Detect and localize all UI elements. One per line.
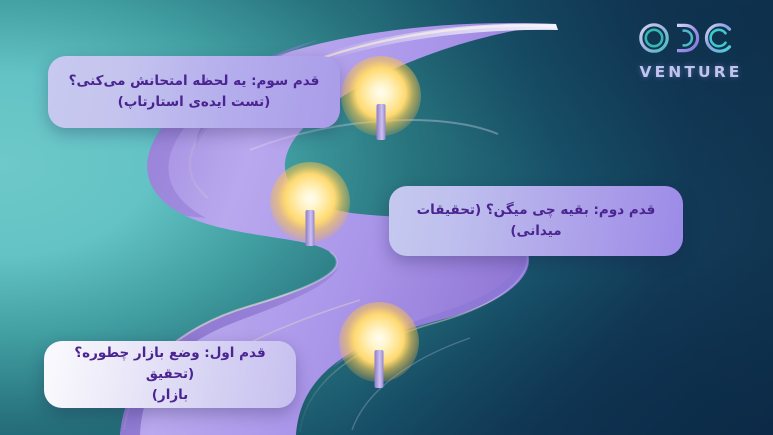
lamp-post	[377, 104, 386, 140]
step-card-1-line2: بازار)	[58, 385, 282, 406]
step-card-3[interactable]: قدم سوم: یه لحظه امتحانش می‌کنی؟ (تست ای…	[48, 56, 340, 128]
step-card-3-line2: (تست ایده‌ی استارتاپ)	[69, 92, 320, 113]
step-card-1[interactable]: قدم اول: وضع بازار چطوره؟ (تحقیق بازار)	[44, 341, 296, 408]
lamp-top	[341, 56, 421, 140]
step-card-2[interactable]: قدم دوم: بقیه چی میگن؟ (تحقیقات میدانی)	[389, 186, 683, 256]
lamp-bottom	[339, 302, 419, 388]
lamp-post	[375, 350, 384, 388]
odc-mark-icon	[637, 22, 745, 58]
step-card-3-line1: قدم سوم: یه لحظه امتحانش می‌کنی؟	[69, 71, 320, 92]
infographic-canvas: قدم سوم: یه لحظه امتحانش می‌کنی؟ (تست ای…	[0, 0, 773, 435]
lamp-middle	[270, 162, 350, 246]
step-card-2-line1: قدم دوم: بقیه چی میگن؟ (تحقیقات میدانی)	[403, 200, 669, 242]
brand-logo[interactable]: VENTURE	[637, 22, 745, 81]
lamp-post	[306, 210, 315, 246]
brand-wordmark: VENTURE	[637, 63, 745, 81]
step-card-1-line1: قدم اول: وضع بازار چطوره؟ (تحقیق	[58, 343, 282, 385]
